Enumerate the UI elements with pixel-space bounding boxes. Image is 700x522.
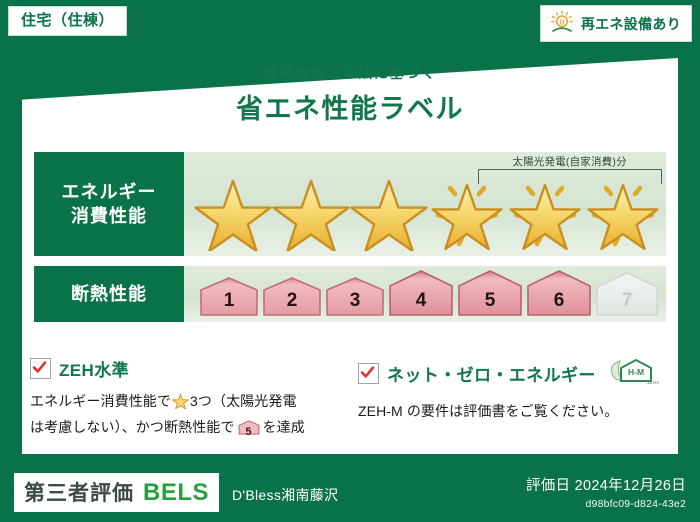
star-icon bbox=[172, 392, 189, 416]
energy-performance-label: 住宅（住棟） D 再エネ設備あり 建築物省エネ法に基づ bbox=[0, 0, 700, 522]
insulation-level-number: 4 bbox=[387, 290, 455, 312]
insulation-level-number: 2 bbox=[261, 290, 323, 312]
net-zero-energy-block: ネット・ゼロ・エネルギー H-M ZEH-M ZEH-M の要件は評価書をご覧く… bbox=[358, 356, 678, 423]
renewable-equipment-badge: D 再エネ設備あり bbox=[540, 5, 692, 42]
title-subtitle: 建築物省エネ法に基づく bbox=[0, 62, 700, 83]
energy-star-list bbox=[184, 168, 666, 254]
insulation-level-badge: 5 bbox=[456, 268, 524, 318]
insulation-level-inline-badge: 5 bbox=[238, 419, 260, 443]
zeh-desc-part-a: エネルギー消費性能で bbox=[30, 393, 171, 409]
energy-star-solar bbox=[428, 171, 506, 251]
title-main: 省エネ性能ラベル bbox=[0, 87, 700, 126]
energy-rating-area: 太陽光発電(自家消費)分 bbox=[184, 152, 666, 256]
dwelling-type-badge: 住宅（住棟） bbox=[8, 6, 127, 36]
renewable-badge-label: 再エネ設備あり bbox=[581, 14, 681, 34]
zeh-m-logo-caption: ZEH-M bbox=[647, 380, 659, 385]
insulation-rating-area: 1 2 3 bbox=[184, 266, 666, 322]
evaluation-date: 評価日 2024年12月26日 bbox=[526, 474, 686, 495]
insulation-level-badge: 3 bbox=[324, 275, 386, 318]
net-zero-title: ネット・ゼロ・エネルギー bbox=[387, 361, 596, 386]
check-icon bbox=[360, 365, 375, 380]
evaluation-info: 評価日 2024年12月26日 d98bfc09-d824-43e2 bbox=[526, 474, 686, 510]
certification-plate: 第三者評価 BELS bbox=[14, 473, 219, 512]
insulation-level-badge-unachieved: 7 bbox=[594, 270, 660, 318]
insulation-level-number: 6 bbox=[525, 290, 593, 312]
insulation-level-number: 5 bbox=[456, 290, 524, 312]
zeh-desc-part-c: は考慮しない）、かつ断熱性能で bbox=[30, 419, 235, 435]
solar-sun-icon: D bbox=[549, 10, 575, 37]
bels-logo-text: BELS bbox=[143, 479, 209, 507]
zeh-standard-checkbox bbox=[30, 358, 51, 379]
property-name: D'Bless湘南藤沢 bbox=[232, 485, 338, 505]
energy-star bbox=[350, 171, 428, 251]
energy-star-solar bbox=[506, 171, 584, 251]
zeh-standard-description: エネルギー消費性能で3つ（太陽光発電 は考慮しない）、かつ断熱性能で5を達成 bbox=[30, 390, 350, 442]
energy-row-label: エネルギー 消費性能 bbox=[34, 152, 184, 256]
third-party-label: 第三者評価 bbox=[24, 477, 134, 507]
solar-caption: 太陽光発電(自家消費)分 bbox=[476, 154, 664, 169]
energy-label-line2: 消費性能 bbox=[71, 204, 147, 228]
insulation-level-badge: 2 bbox=[261, 275, 323, 318]
insulation-label: 断熱性能 bbox=[71, 282, 147, 306]
net-zero-header: ネット・ゼロ・エネルギー H-M ZEH-M bbox=[358, 356, 678, 391]
svg-text:D: D bbox=[559, 18, 564, 26]
net-zero-checkbox bbox=[358, 363, 379, 384]
insulation-level-badge: 1 bbox=[198, 275, 260, 318]
zeh-standard-title: ZEH水準 bbox=[59, 356, 129, 381]
energy-performance-row: エネルギー 消費性能 太陽光発電(自家消費)分 bbox=[34, 152, 666, 256]
zeh-m-logo-text: H-M bbox=[628, 367, 644, 377]
zeh-m-house-logo: H-M ZEH-M bbox=[607, 356, 659, 391]
energy-star bbox=[272, 171, 350, 251]
check-icon bbox=[32, 360, 47, 375]
energy-star bbox=[194, 171, 272, 251]
energy-star-solar bbox=[584, 171, 662, 251]
zeh-standard-block: ZEH水準 エネルギー消費性能で3つ（太陽光発電 は考慮しない）、かつ断熱性能で… bbox=[30, 356, 350, 442]
insulation-inline-number: 5 bbox=[238, 424, 260, 442]
zeh-desc-part-b: 3つ（太陽光発電 bbox=[190, 393, 297, 409]
insulation-row-label: 断熱性能 bbox=[34, 266, 184, 322]
dwelling-type-label: 住宅（住棟） bbox=[21, 12, 114, 29]
label-title-block: 建築物省エネ法に基づく 省エネ性能ラベル bbox=[0, 62, 700, 126]
energy-label-line1: エネルギー bbox=[62, 180, 157, 204]
insulation-level-number: 7 bbox=[594, 290, 660, 312]
insulation-level-number: 1 bbox=[198, 290, 260, 312]
insulation-level-list: 1 2 3 bbox=[184, 266, 666, 322]
zeh-desc-part-d: を達成 bbox=[263, 419, 305, 435]
insulation-performance-row: 断熱性能 1 2 bbox=[34, 266, 666, 322]
evaluation-id: d98bfc09-d824-43e2 bbox=[526, 498, 686, 510]
net-zero-description: ZEH-M の要件は評価書をご覧ください。 bbox=[358, 400, 678, 423]
insulation-level-badge: 6 bbox=[525, 268, 593, 318]
insulation-level-number: 3 bbox=[324, 290, 386, 312]
zeh-standard-header: ZEH水準 bbox=[30, 356, 350, 381]
insulation-level-badge: 4 bbox=[387, 268, 455, 318]
